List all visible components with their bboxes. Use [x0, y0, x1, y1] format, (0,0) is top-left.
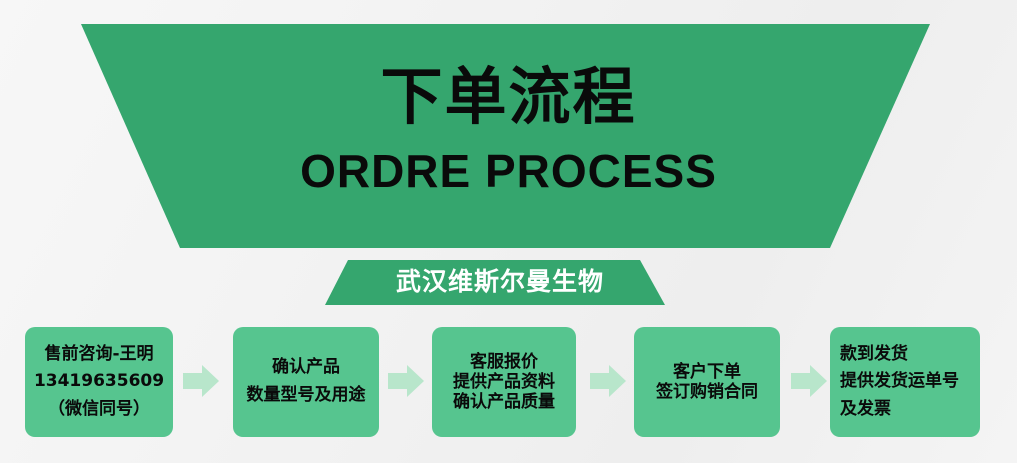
step-line: 确认产品 [272, 354, 340, 382]
step-line: 客户下单 [673, 362, 741, 382]
step-line: 客服报价 [470, 352, 538, 372]
flow-arrow-1-to-2 [181, 363, 221, 399]
arrow-right-icon [181, 363, 221, 399]
flow-step-pre-sales-consultation[interactable]: 售前咨询-王明 13419635609 （微信同号） [25, 327, 173, 437]
flow-arrow-2-to-3 [386, 363, 426, 399]
hero-trapezoid-shape [0, 0, 1017, 252]
arrow-right-icon [789, 363, 829, 399]
flow-step-payment-and-shipping[interactable]: 款到发货 提供发货运单号 及发票 [830, 327, 980, 437]
flow-step-customer-places-order[interactable]: 客户下单 签订购销合同 [634, 327, 780, 437]
flow-step-customer-service-quote[interactable]: 客服报价 提供产品资料 确认产品质量 [432, 327, 576, 437]
step-line: 数量型号及用途 [247, 382, 366, 410]
hero-banner: 下单流程 ORDRE PROCESS [0, 0, 1017, 252]
step-line: 售前咨询-王明 [44, 341, 153, 369]
sub-banner-trapezoid-shape [310, 256, 690, 308]
step-line: 及发票 [840, 396, 891, 424]
flow-step-confirm-product[interactable]: 确认产品 数量型号及用途 [233, 327, 379, 437]
flow-arrow-3-to-4 [588, 363, 628, 399]
arrow-right-icon [588, 363, 628, 399]
step-line: 提供发货运单号 [840, 368, 959, 396]
step-line: 款到发货 [840, 341, 908, 369]
step-line: 签订购销合同 [656, 382, 758, 402]
step-line: 13419635609 [34, 368, 164, 396]
step-line: （微信同号） [48, 396, 150, 424]
flow-arrow-4-to-5 [789, 363, 829, 399]
arrow-right-icon [386, 363, 426, 399]
process-flow: 售前咨询-王明 13419635609 （微信同号） 确认产品 数量型号及用途 … [0, 327, 1017, 442]
step-line: 确认产品质量 [453, 392, 555, 412]
company-sub-banner: 武汉维斯尔曼生物 [310, 256, 690, 308]
order-process-poster: 下单流程 ORDRE PROCESS 武汉维斯尔曼生物 售前咨询-王明 1341… [0, 0, 1017, 463]
step-line: 提供产品资料 [453, 372, 555, 392]
